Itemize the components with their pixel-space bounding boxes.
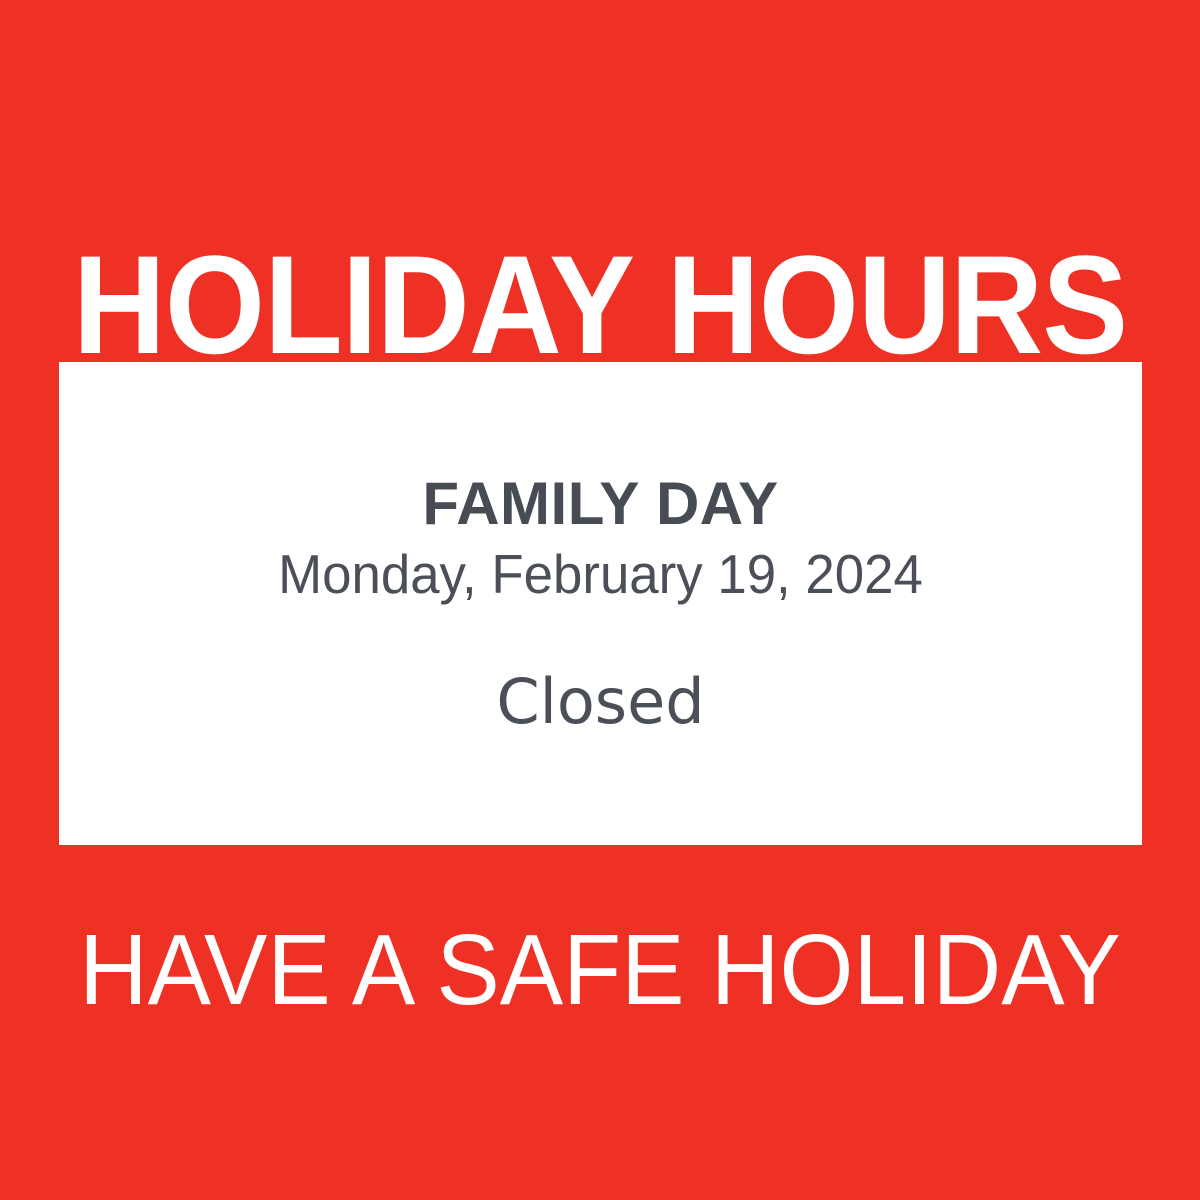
page-title: HOLIDAY HOURS (48, 235, 1152, 375)
card-content: FAMILY DAY Monday, February 19, 2024 Clo… (59, 471, 1142, 737)
holiday-name: FAMILY DAY (59, 471, 1142, 537)
holiday-hours-poster: HOLIDAY HOURS FAMILY DAY Monday, Februar… (0, 0, 1200, 1200)
holiday-date: Monday, February 19, 2024 (81, 543, 1121, 605)
poster-tagline: HAVE A SAFE HOLIDAY (30, 918, 1170, 1022)
status-badge: Closed (59, 667, 1142, 737)
holiday-detail-card: FAMILY DAY Monday, February 19, 2024 Clo… (59, 362, 1142, 845)
